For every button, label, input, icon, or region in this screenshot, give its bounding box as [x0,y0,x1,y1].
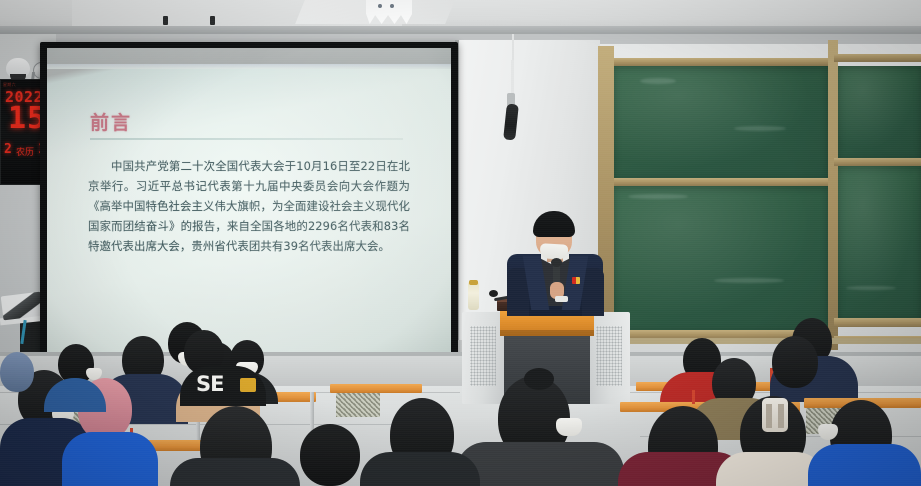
chalkboard-rail [834,318,921,327]
microphone-capsule [551,258,562,267]
chalkboard-panel-lower-left [614,186,828,330]
floor-tile-line [600,392,921,393]
chalkboard-panel-upper-right [838,66,921,158]
av-equipment [1,292,44,321]
slide-divider [90,138,403,140]
desk [330,384,422,393]
audience-body-royal-blue [808,444,921,486]
projection-screen-top-band [47,48,451,64]
chalkboard-panel-lower-right [838,166,921,318]
desk-basket [336,393,380,417]
hair-clip-slot [766,404,772,428]
ceiling-fixture-hole [163,16,168,25]
speaker-grille [596,326,622,386]
clock-lunar-label: 农历 [16,145,34,158]
hair-clip-slot [778,404,784,428]
audience-head [300,424,360,486]
lapel-badge-pin [572,277,580,284]
podium-panel-shadow [500,330,594,336]
clock-month: 2 [4,142,12,157]
face-mask [556,418,582,436]
audience-body-dark [360,452,480,486]
audience-head [772,336,818,388]
chalkboard-rail [610,178,832,186]
microphone-head [489,290,498,297]
water-bottle[interactable] [468,282,479,310]
slide-title: 前言 [90,108,132,135]
vent-hole [378,4,382,8]
chalkboard-rail [834,158,921,166]
audience-body-grey [456,442,624,486]
chalkboard-divider-frame-right [828,40,838,350]
speaker-shirt-cuff [555,296,568,302]
speaker-grille [470,326,496,386]
projection-screen-highlight [47,64,451,69]
hoodie-accent [240,378,256,392]
chalk-tray [600,338,921,344]
hoodie-print: SE [196,372,234,396]
ceiling-fixture-hole [210,16,215,25]
speaker-arm-right [582,268,604,316]
audience-head-blue [0,352,34,392]
chalkboard-rail [834,54,921,62]
desk-post [692,390,695,404]
lecture-hall-photo: 星期六 2022 年 15 2 农历 11 前言 中国共产党第二十次全国代表大会… [0,0,921,486]
hair-bun [524,368,554,390]
chalkboard-panel-upper-left [614,66,828,178]
vent-hole [390,4,394,8]
slide-body-text: 中国共产党第二十次全国代表大会于10月16日至22日在北京举行。习近平总书记代表… [88,156,410,256]
chalkboard-rail [610,58,832,66]
audience-body-blue [62,432,158,486]
audience-body-dark [170,458,300,486]
bottle-cap [469,280,478,285]
